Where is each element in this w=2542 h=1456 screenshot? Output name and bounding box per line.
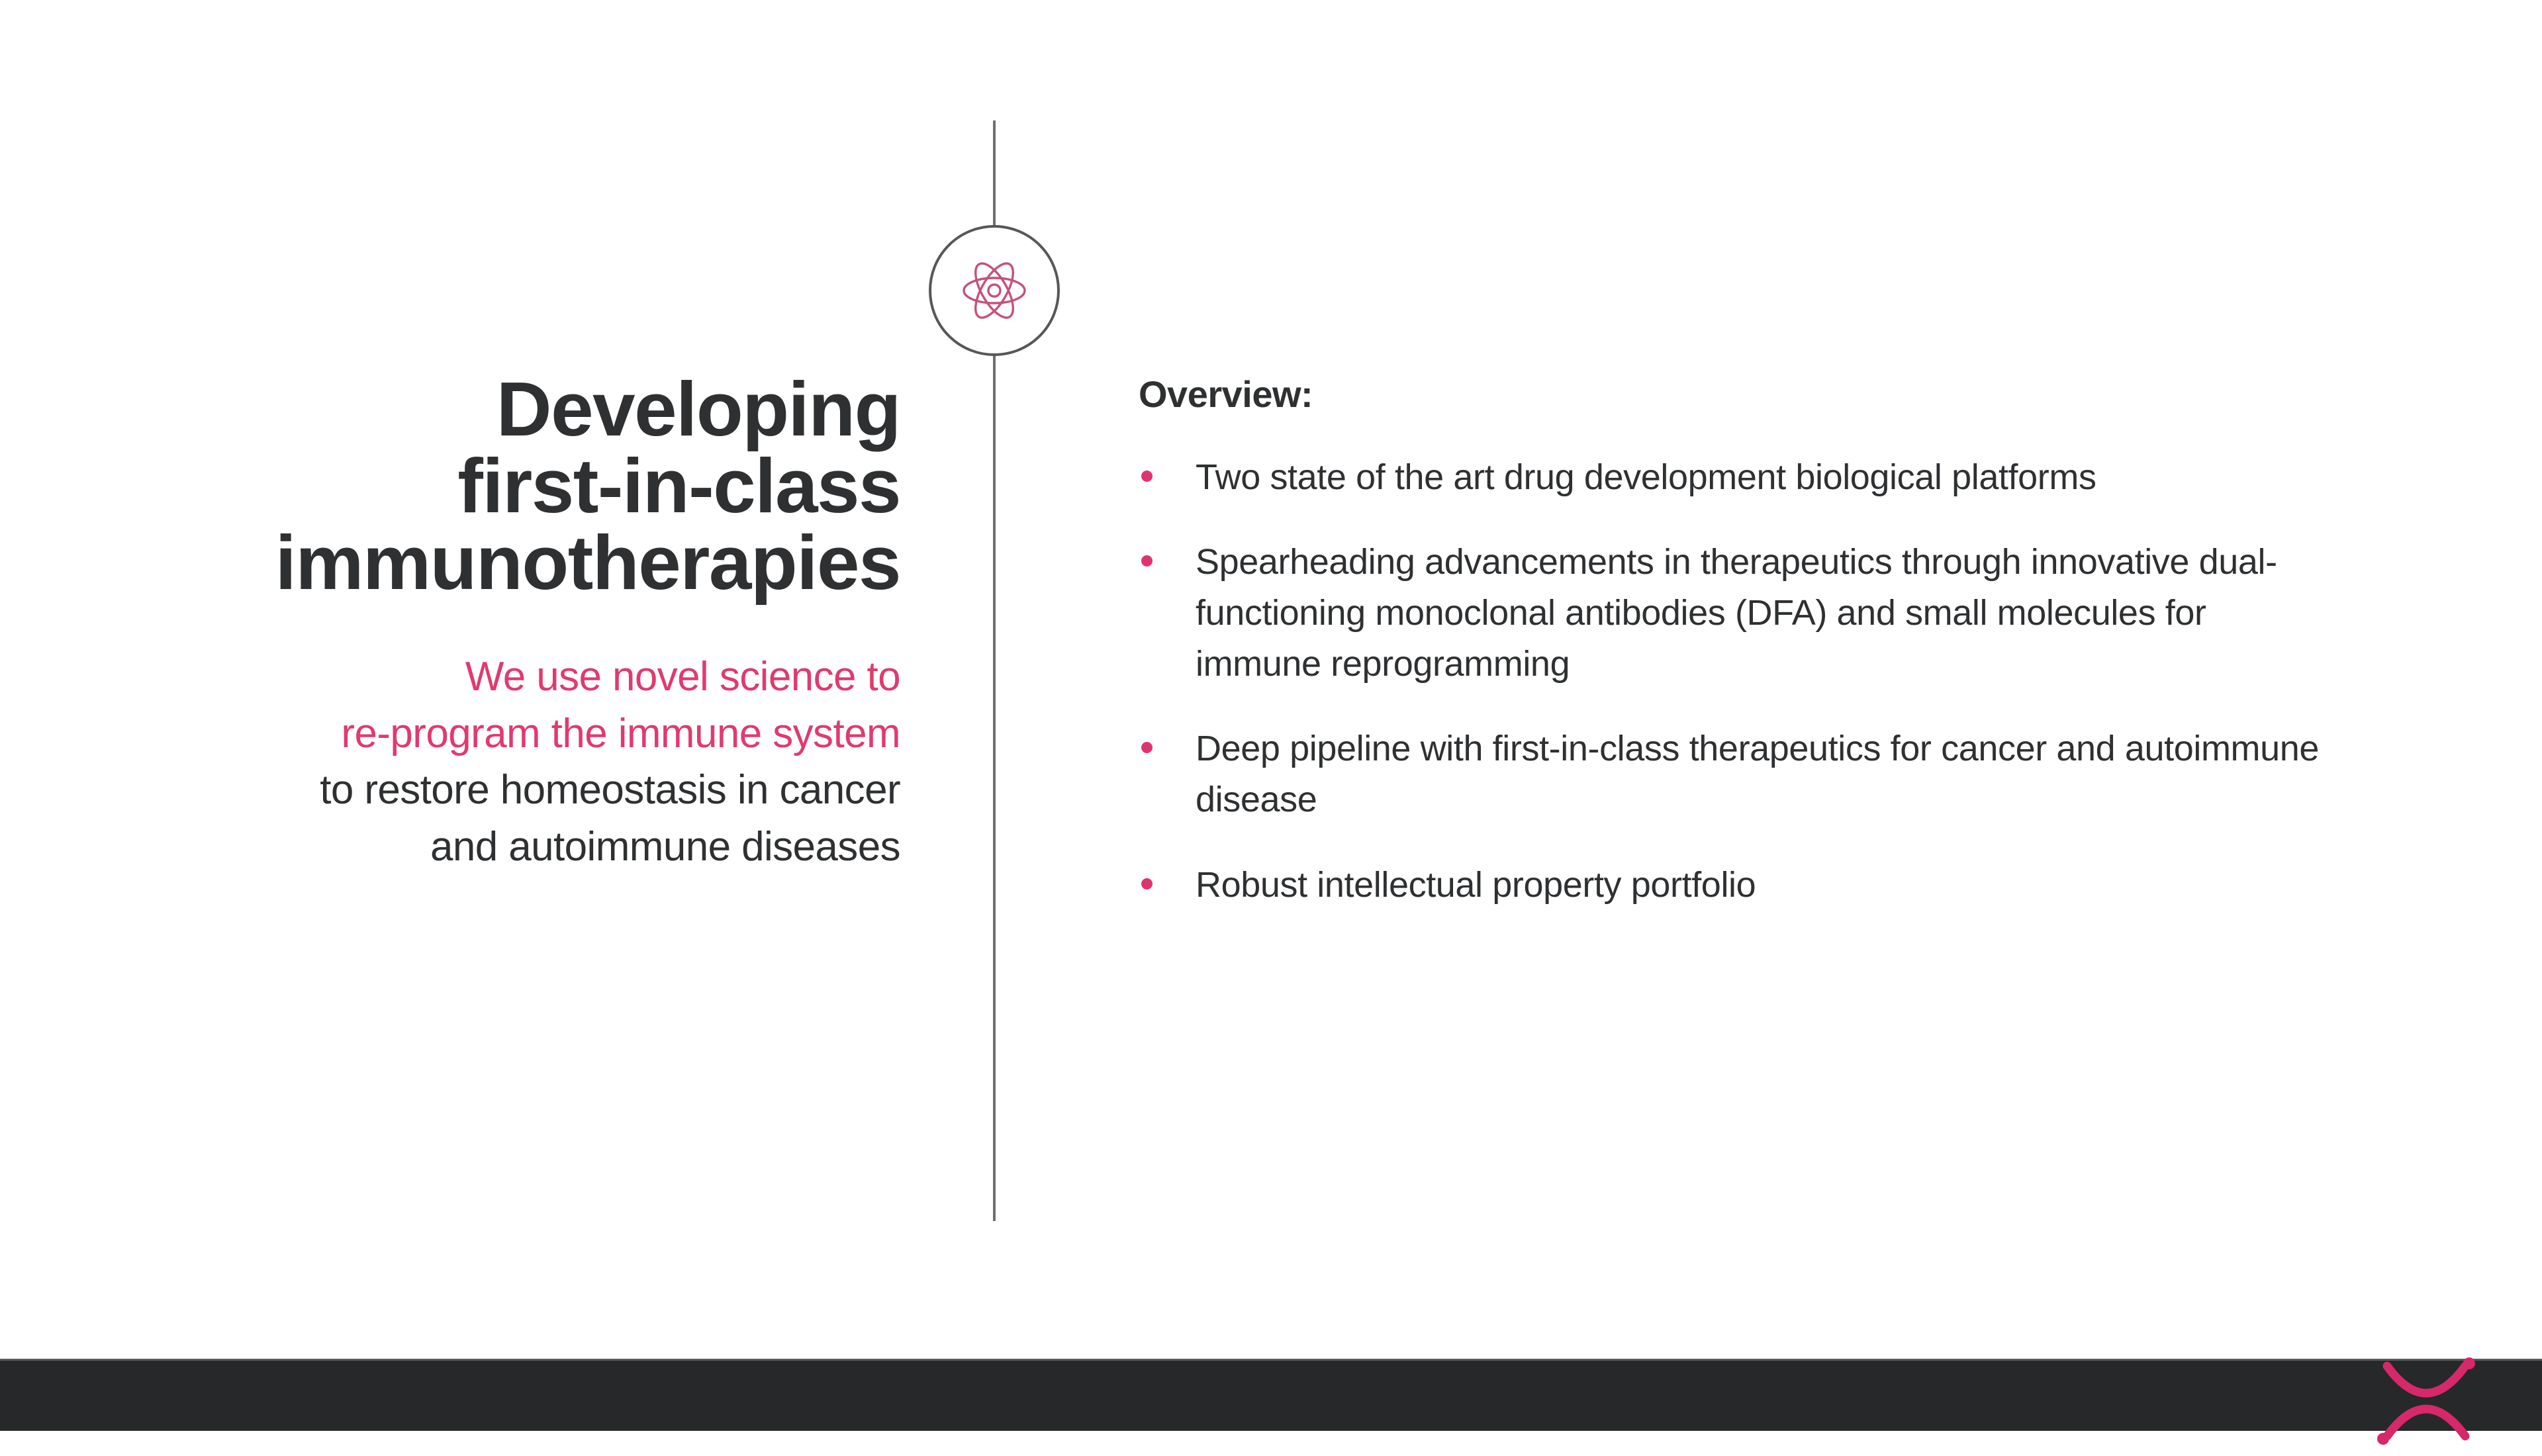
atom-icon — [955, 251, 1034, 330]
headline-line-3: immunotherapies — [79, 524, 900, 601]
bullet-dot-icon — [1141, 471, 1153, 482]
tagline-line-2: re-program the immune system — [79, 705, 900, 762]
tagline-line-1: We use novel science to — [79, 649, 900, 705]
headline-line-1: Developing — [79, 371, 900, 447]
atom-badge — [929, 225, 1060, 356]
tagline: We use novel science to re-program the i… — [79, 601, 900, 875]
brand-x-logo-icon — [2363, 1357, 2489, 1456]
footer-bar — [0, 1359, 2542, 1431]
bullet-dot-icon — [1141, 742, 1153, 753]
page-title: Developing first-in-class immunotherapie… — [79, 371, 900, 601]
headline-line-2: first-in-class — [79, 447, 900, 524]
list-item-text: Deep pipeline with first-in-class therap… — [1196, 729, 2319, 819]
right-column: Overview: Two state of the art drug deve… — [1139, 374, 2330, 910]
slide-canvas: Developing first-in-class immunotherapie… — [0, 0, 2542, 1431]
list-item: Deep pipeline with first-in-class therap… — [1139, 723, 2330, 825]
bullet-dot-icon — [1141, 555, 1153, 567]
list-item-text: Two state of the art drug development bi… — [1196, 457, 2096, 497]
tagline-line-4: and autoimmune diseases — [79, 819, 900, 876]
overview-heading: Overview: — [1139, 374, 2330, 415]
list-item: Spearheading advancements in therapeutic… — [1139, 537, 2330, 689]
tagline-line-3: to restore homeostasis in cancer — [79, 762, 900, 819]
overview-bullet-list: Two state of the art drug development bi… — [1139, 452, 2330, 911]
list-item-text: Robust intellectual property portfolio — [1196, 865, 1756, 905]
list-item: Robust intellectual property portfolio — [1139, 860, 2330, 911]
list-item-text: Spearheading advancements in therapeutic… — [1196, 542, 2277, 683]
bullet-dot-icon — [1141, 878, 1153, 889]
left-column: Developing first-in-class immunotherapie… — [79, 371, 900, 875]
list-item: Two state of the art drug development bi… — [1139, 452, 2330, 503]
